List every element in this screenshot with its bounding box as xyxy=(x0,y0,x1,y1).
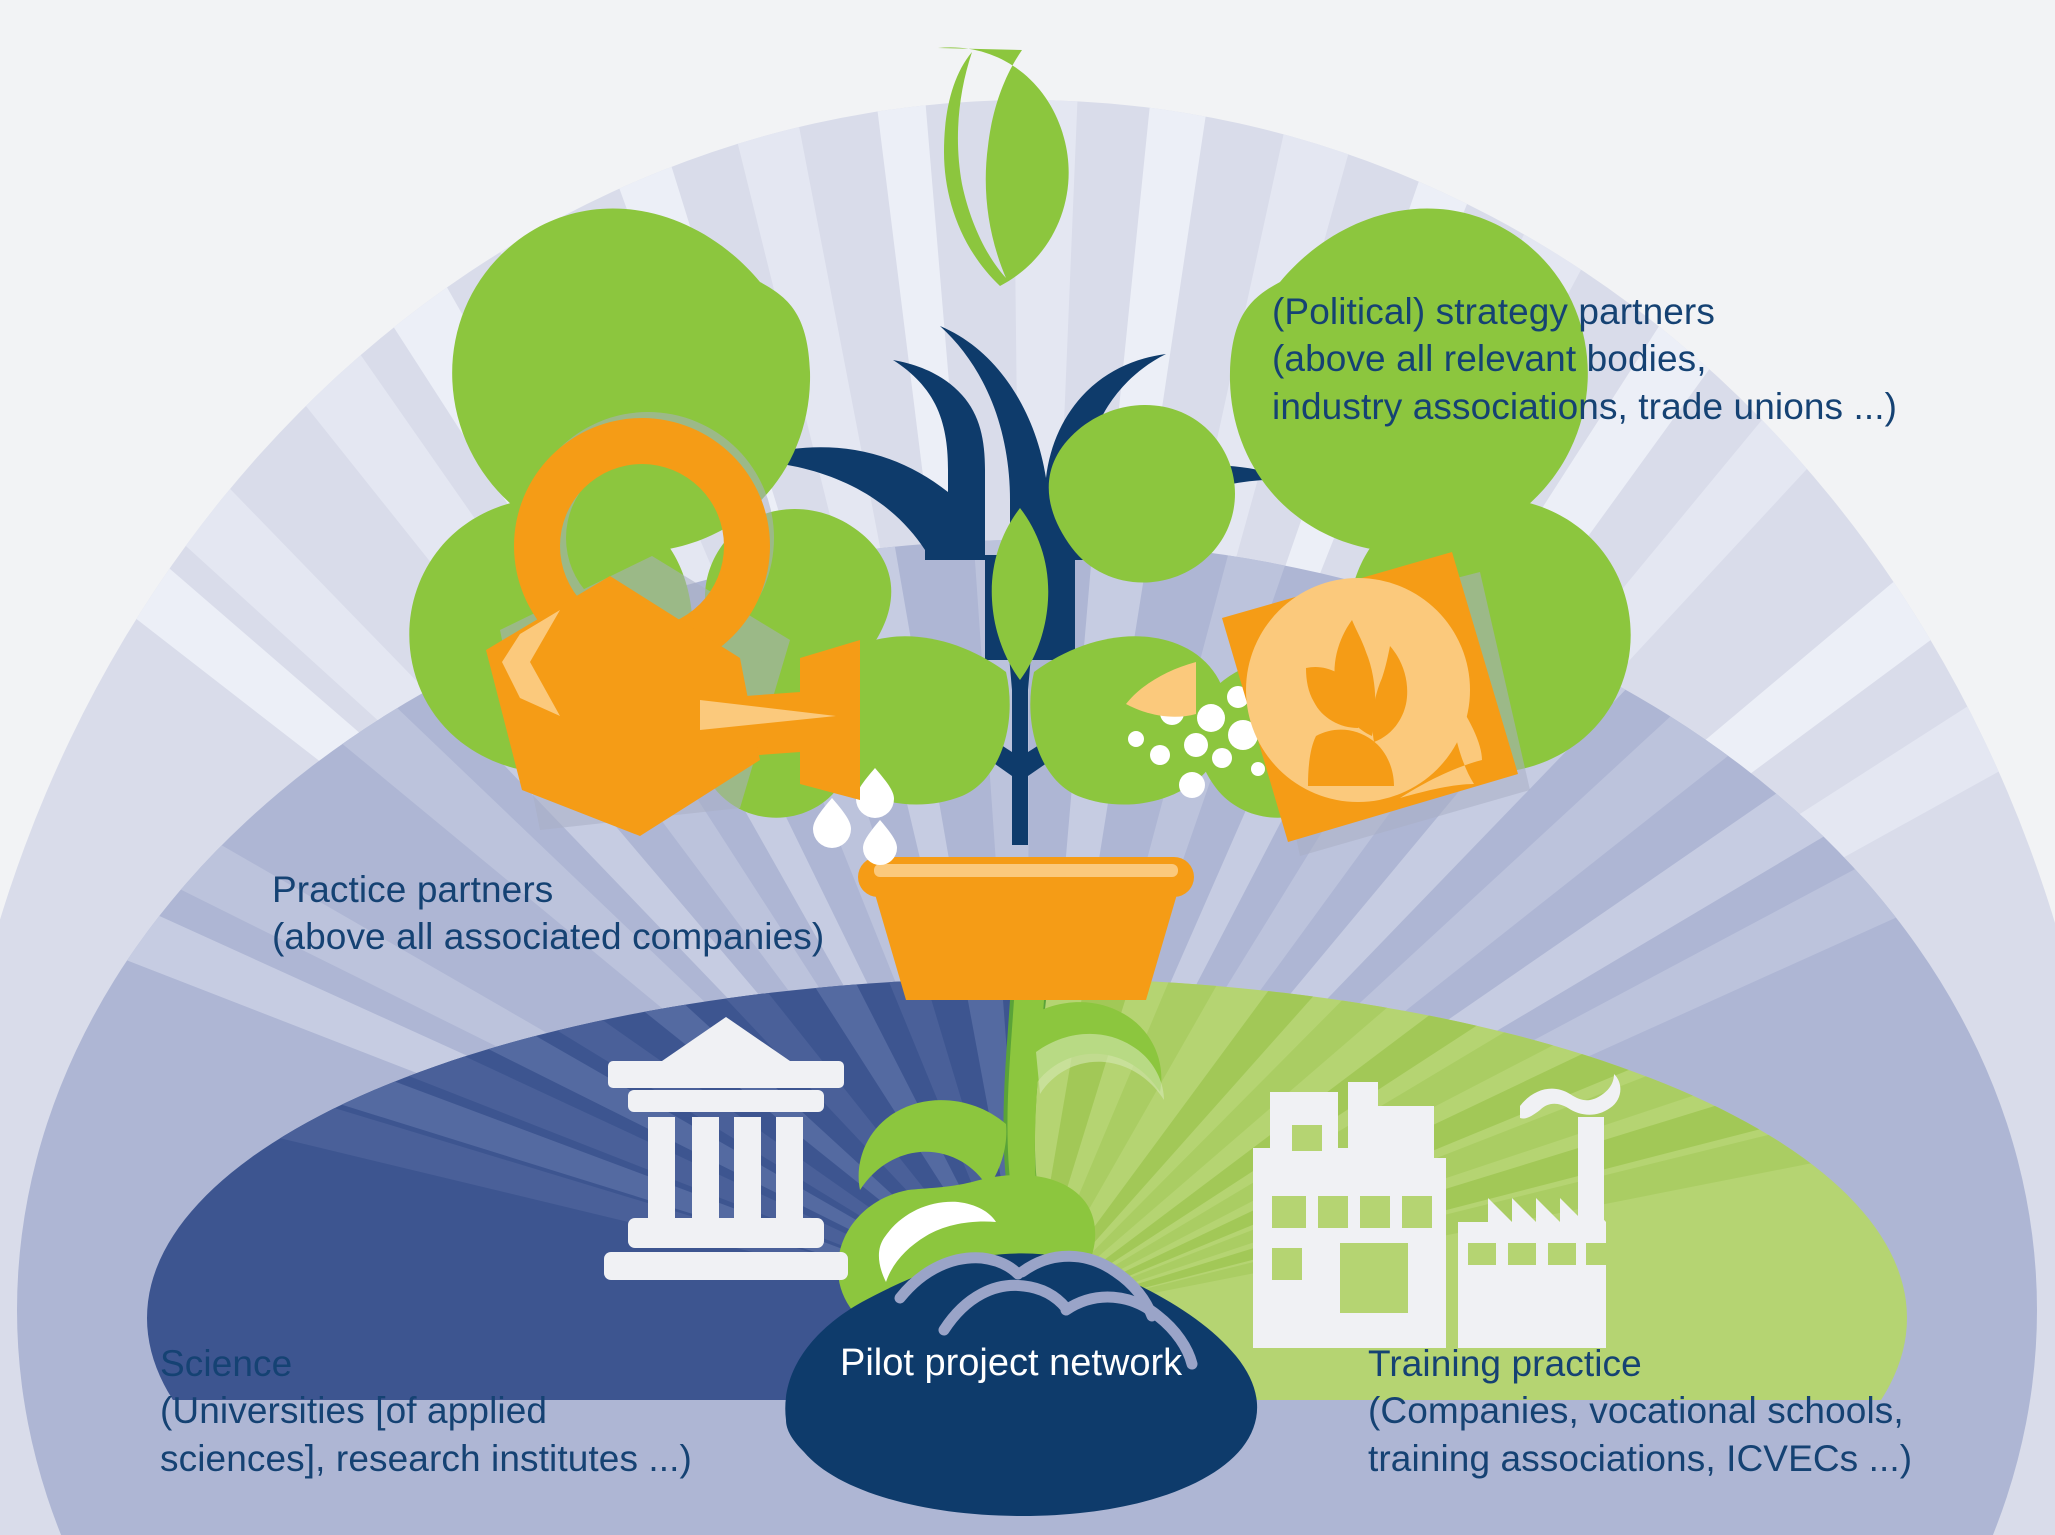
flower-pot-icon xyxy=(858,857,1194,1000)
infographic-canvas: (Political) strategy partners (above all… xyxy=(0,0,2055,1535)
label-training-practice: Training practice (Companies, vocational… xyxy=(1368,1340,1912,1482)
label-science: Science (Universities [of applied scienc… xyxy=(160,1340,692,1482)
label-strategy-partners: (Political) strategy partners (above all… xyxy=(1272,288,1897,430)
diagram-artwork xyxy=(0,0,2055,1535)
label-pilot-project-network: Pilot project network xyxy=(840,1342,1160,1385)
label-practice-partners: Practice partners (above all associated … xyxy=(272,866,824,961)
